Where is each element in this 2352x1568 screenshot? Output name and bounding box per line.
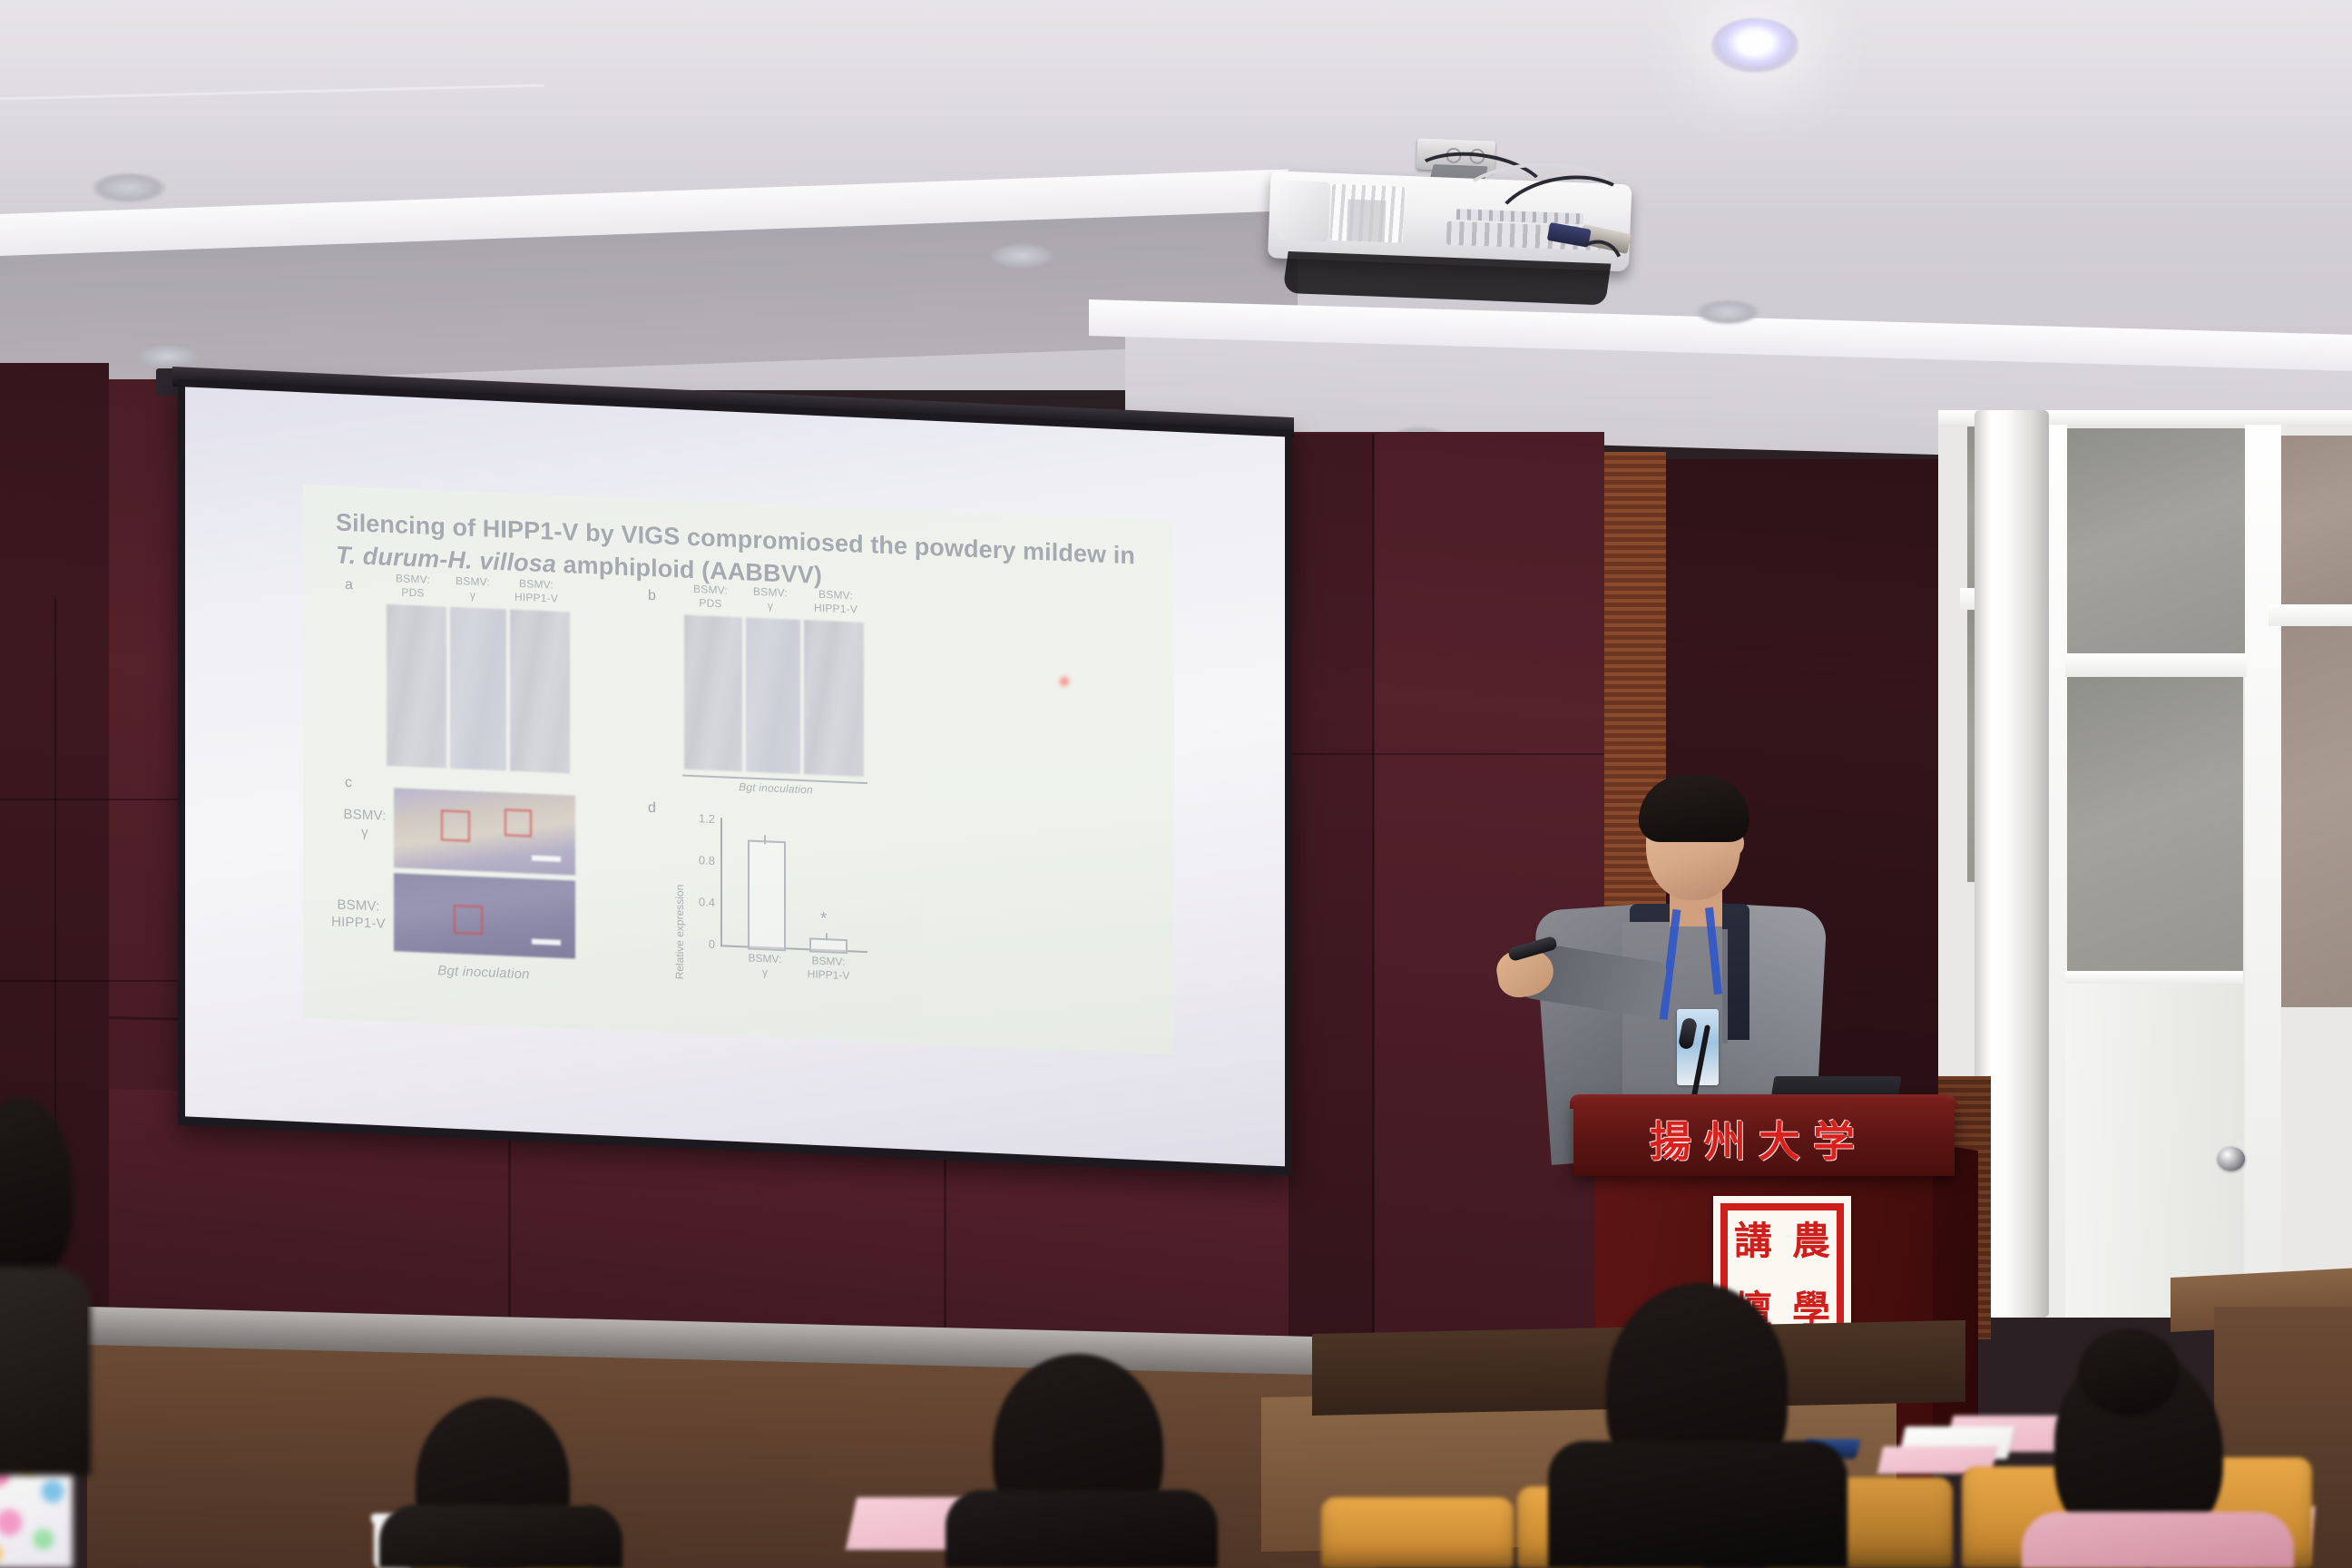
wall-panel-seam [1270,753,1604,755]
chart-bar-bsmv-gamma [748,840,786,952]
ceiling-downlight-icon [136,345,200,368]
glass-pane [2279,436,2352,612]
panel-a-image-gamma [450,607,506,771]
audience-member-hair-bun [2078,1328,2180,1416]
panel-b-col-label-gamma: BSMV: γ [742,584,799,614]
chart-errorbar-bsmv-gamma [764,835,766,844]
audience-member-shoulders [946,1490,1218,1568]
panel-c-micrograph-gamma [394,788,575,875]
panel-c-roi-box [505,808,532,837]
panel-c-micrograph-hipp1v [394,873,575,958]
window-transom [2065,653,2247,677]
door-panel[interactable] [2065,976,2243,1318]
ceiling-downlight-icon [91,172,167,203]
ceiling-downlight-icon [1695,299,1760,325]
panel-a-col-label-gamma: BSMV: γ [445,574,501,604]
laser-pointer-dot [1058,675,1071,688]
chart-ytick-1_2: 1.2 [684,811,715,826]
slide-title-italic-species1: T. durum- [336,542,447,573]
panel-a-image-pds [387,604,446,769]
projector-lens-icon [1278,181,1330,242]
seal-char-jiang: 講 [1728,1221,1779,1261]
chart-ytick-0: 0 [684,936,715,951]
door-rail [2065,971,2243,984]
panel-c-letter: c [345,775,352,791]
panel-d-letter: d [648,800,656,817]
panel-c-caption: Bgt inoculation [390,960,577,985]
ceiling-downlight-icon [989,243,1054,269]
audience-member-shoulders [1548,1441,1847,1568]
panel-b-col-label-hipp1v: BSMV: HIPP1-V [797,587,875,618]
chart-xtick-bsmv-hipp1v: BSMV:HIPP1-V [797,954,860,984]
panel-d-bar-chart: Relative expression 1.2 0.8 0.4 0 * BSMV… [668,816,884,1003]
seal-char-nong: 農 [1786,1221,1837,1261]
panel-c-roi-box [441,809,470,841]
projector-label [1347,199,1387,242]
wall-panel-seam [0,980,192,982]
audience-member-shoulders [2022,1512,2294,1568]
panel-b-image-gamma [746,617,800,774]
presentation-slide: Silencing of HIPP1-V by VIGS compromiose… [303,485,1174,1054]
chart-significance-marker: * [820,909,827,929]
glass-pane [2065,428,2247,653]
panel-b-image-hipp1v [804,620,864,777]
audience-member-shoulders [0,1267,91,1475]
panel-a-image-hipp1v [510,610,570,774]
glass-pane [2065,677,2243,976]
panel-c-roi-box [454,905,483,935]
chart-bar-bsmv-hipp1v [809,937,848,954]
wall-panel-seam [0,799,192,800]
lecture-hall-photo: Silencing of HIPP1-V by VIGS compromiose… [0,0,2352,1568]
glass-pane [2279,626,2352,1007]
door-knob-icon[interactable] [2218,1147,2245,1171]
panel-a-col-label-hipp1v: BSMV: HIPP1-V [499,576,573,606]
chart-xtick-bsmv-gamma: BSMV:γ [739,951,791,980]
ceiling-downlight-on-icon [1711,18,1798,73]
panel-c-scale-bar [532,856,561,862]
panel-b-letter: b [648,588,656,604]
chart-errorbar-bsmv-hipp1v [826,933,828,940]
chart-ytick-0_4: 0.4 [684,895,715,909]
auditorium-chair[interactable] [1321,1497,1514,1568]
podium-university-name: 揚州大学 [1604,1109,1913,1169]
chart-ytick-0_8: 0.8 [684,853,715,867]
panel-c-caption-text: Bgt inoculation [437,963,529,982]
wall-panel-seam [1372,434,1375,1341]
panel-a-letter: a [345,577,353,593]
speaker-hair [1639,775,1749,842]
panel-b-col-label-pds: BSMV: PDS [679,582,742,612]
window-mullion [2245,410,2281,1318]
slide-title-italic-species2: H. villosa [447,546,556,578]
audience-member-shoulders [379,1504,622,1568]
panel-b-image-pds [684,615,742,772]
panel-a-col-label-pds: BSMV: PDS [381,572,445,602]
window-transom [2269,604,2352,626]
panel-c-scale-bar [532,939,561,946]
ceiling-projector [1266,149,1644,327]
chart-y-axis [720,818,722,946]
